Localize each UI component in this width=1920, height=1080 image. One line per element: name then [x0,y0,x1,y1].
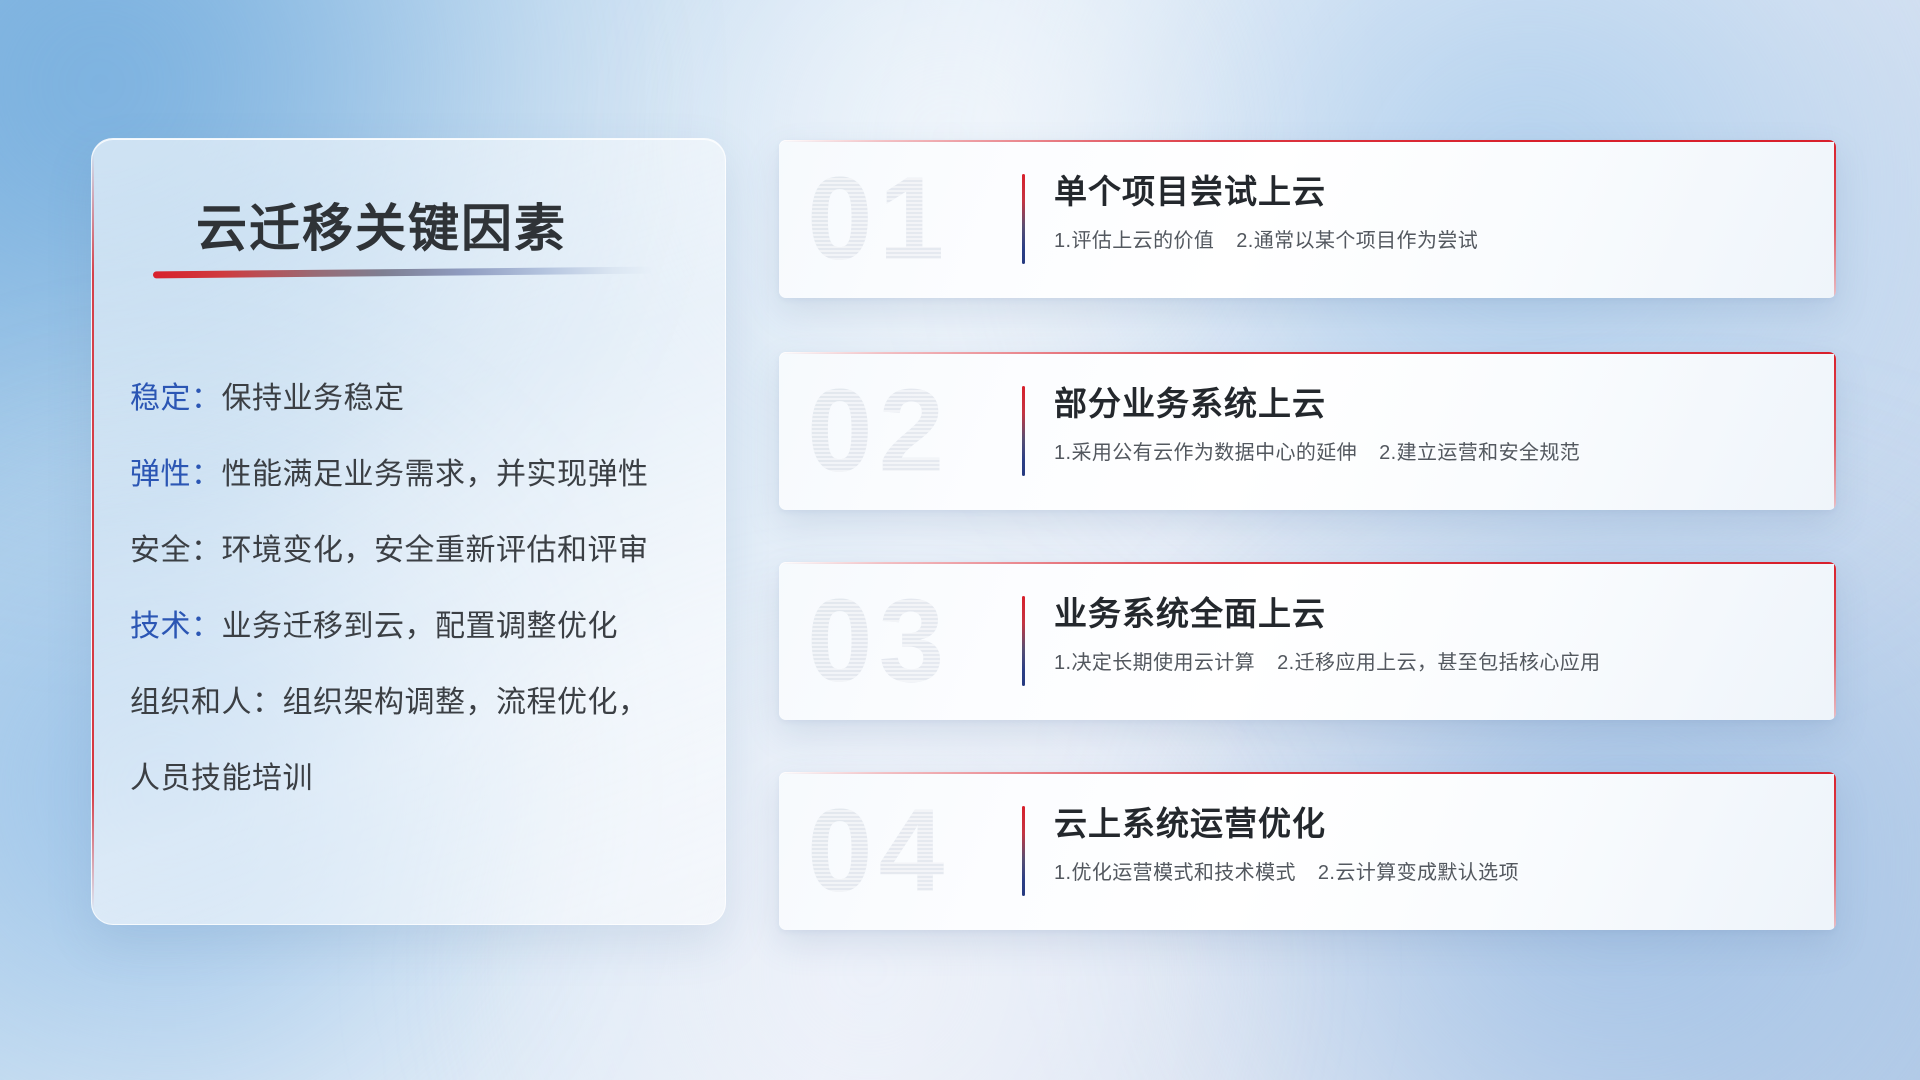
stage-title: 业务系统全面上云 [1054,592,1810,636]
stage-description: 1.采用公有云作为数据中心的延伸2.建立运营和安全规范 [1054,439,1810,467]
stage-title: 云上系统运营优化 [1054,802,1810,846]
stage-point-2: 2.云计算变成默认选项 [1318,862,1519,884]
factor-text: 业务迁移到云，配置调整优化 [222,610,619,643]
factor-text: 环境变化，安全重新评估和评审 [222,534,649,567]
stage-divider-accent [1022,386,1025,476]
factor-label: 安全： [130,534,222,567]
stage-card-content: 部分业务系统上云 1.采用公有云作为数据中心的延伸2.建立运营和安全规范 [1054,382,1810,467]
stage-number-01: 01 [807,160,950,278]
stage-number-02: 02 [807,372,950,490]
stage-description: 1.优化运营模式和技术模式2.云计算变成默认选项 [1054,859,1810,887]
stage-number-shadow: 02 [807,372,950,490]
slide-canvas: 云迁移关键因素 稳定：保持业务稳定 弹性：性能满足业务需求，并实现弹性 安全：环… [0,0,1920,1080]
stage-point-1: 1.评估上云的价值 [1054,230,1214,252]
stage-point-2: 2.迁移应用上云，甚至包括核心应用 [1277,652,1600,674]
stage-divider-accent [1022,806,1025,896]
stage-divider-accent [1022,174,1025,264]
stage-title: 单个项目尝试上云 [1054,170,1810,214]
key-factors-panel-body: 云迁移关键因素 稳定：保持业务稳定 弹性：性能满足业务需求，并实现弹性 安全：环… [92,139,725,924]
stage-description: 1.评估上云的价值2.通常以某个项目作为尝试 [1054,227,1810,255]
stage-point-1: 1.优化运营模式和技术模式 [1054,862,1296,884]
stage-card-03[interactable]: 03 03 业务系统全面上云 1.决定长期使用云计算2.迁移应用上云，甚至包括核… [779,562,1836,720]
factor-item-stability: 稳定：保持业务稳定 [130,361,705,437]
factor-label: 组织和人： [130,686,283,719]
factor-item-technology: 技术：业务迁移到云，配置调整优化 [130,589,705,665]
title-underline-accent [153,267,653,279]
stage-card-content: 单个项目尝试上云 1.评估上云的价值2.通常以某个项目作为尝试 [1054,170,1810,255]
factor-text: 性能满足业务需求，并实现弹性 [222,458,649,491]
stage-title: 部分业务系统上云 [1054,382,1810,426]
stage-point-2: 2.建立运营和安全规范 [1379,442,1580,464]
factor-text: 人员技能培训 [130,762,313,795]
stage-card-content: 云上系统运营优化 1.优化运营模式和技术模式2.云计算变成默认选项 [1054,802,1810,887]
factor-label: 弹性： [130,458,222,491]
stage-point-2: 2.通常以某个项目作为尝试 [1236,230,1478,252]
factor-label: 技术： [130,610,222,643]
stage-number-shadow: 03 [807,582,950,700]
page-title: 云迁移关键因素 [196,187,567,261]
factor-item-security: 安全：环境变化，安全重新评估和评审 [130,513,705,589]
stage-card-02[interactable]: 02 02 部分业务系统上云 1.采用公有云作为数据中心的延伸2.建立运营和安全… [779,352,1836,510]
factor-label: 稳定： [130,382,222,415]
stage-number-shadow: 04 [807,792,950,910]
stage-number-04: 04 [807,792,950,910]
key-factors-panel: 云迁移关键因素 稳定：保持业务稳定 弹性：性能满足业务需求，并实现弹性 安全：环… [91,138,726,925]
factor-item-elasticity: 弹性：性能满足业务需求，并实现弹性 [130,437,705,513]
factor-text: 组织架构调整，流程优化， [283,686,649,719]
stage-card-content: 业务系统全面上云 1.决定长期使用云计算2.迁移应用上云，甚至包括核心应用 [1054,592,1810,677]
stage-point-1: 1.决定长期使用云计算 [1054,652,1255,674]
stage-card-04[interactable]: 04 04 云上系统运营优化 1.优化运营模式和技术模式2.云计算变成默认选项 [779,772,1836,930]
key-factors-list: 稳定：保持业务稳定 弹性：性能满足业务需求，并实现弹性 安全：环境变化，安全重新… [130,361,705,817]
stage-number-03: 03 [807,582,950,700]
factor-text: 保持业务稳定 [222,382,405,415]
stage-number-shadow: 01 [807,160,950,278]
factor-item-organization: 组织和人：组织架构调整，流程优化， [130,665,705,741]
stage-divider-accent [1022,596,1025,686]
stage-point-1: 1.采用公有云作为数据中心的延伸 [1054,442,1357,464]
stage-card-01[interactable]: 01 01 单个项目尝试上云 1.评估上云的价值2.通常以某个项目作为尝试 [779,140,1836,298]
factor-item-organization-continued: 人员技能培训 [130,741,705,817]
stage-description: 1.决定长期使用云计算2.迁移应用上云，甚至包括核心应用 [1054,649,1810,677]
